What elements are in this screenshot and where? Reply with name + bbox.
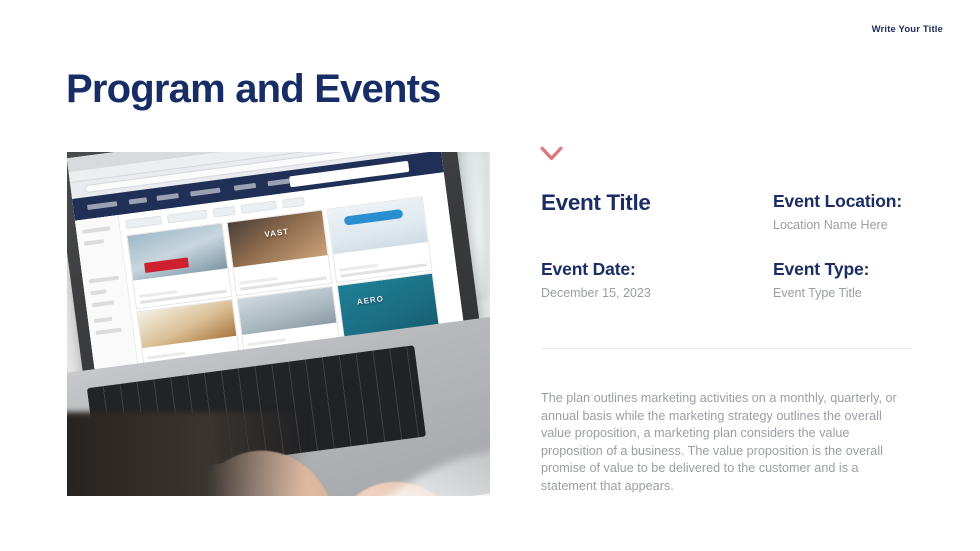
- template-card: [328, 197, 432, 282]
- field-label: Event Date:: [541, 258, 651, 280]
- field-event-date: Event Date: December 15, 2023: [541, 258, 651, 301]
- field-event-location: Event Location: Location Name Here: [773, 190, 902, 233]
- event-details: Event Title Event Location: Location Nam…: [541, 190, 913, 326]
- detail-row: Event Date: December 15, 2023 Event Type…: [541, 258, 913, 326]
- slide-canvas: Write Your Title Program and Events: [0, 0, 980, 551]
- template-card: VAST: [228, 210, 332, 295]
- chevron-down-icon: [540, 145, 563, 163]
- field-value: Event Type Title: [773, 285, 869, 301]
- section-divider: [541, 348, 912, 349]
- event-photo: VAST: [67, 152, 490, 496]
- page-title: Program and Events: [66, 66, 441, 112]
- photo-image: VAST: [67, 152, 490, 496]
- field-event-type: Event Type: Event Type Title: [773, 258, 869, 301]
- field-label: Event Location:: [773, 190, 902, 212]
- template-card: [127, 224, 231, 309]
- field-event-title: Event Title: [541, 190, 651, 216]
- field-value: December 15, 2023: [541, 285, 651, 301]
- body-paragraph: The plan outlines marketing activities o…: [541, 390, 907, 496]
- slide-header-title: Write Your Title: [872, 24, 943, 35]
- field-label: Event Type:: [773, 258, 869, 280]
- detail-row: Event Title Event Location: Location Nam…: [541, 190, 913, 258]
- field-label: Event Title: [541, 190, 651, 216]
- field-value: Location Name Here: [773, 217, 902, 233]
- desk-surface: [67, 412, 307, 496]
